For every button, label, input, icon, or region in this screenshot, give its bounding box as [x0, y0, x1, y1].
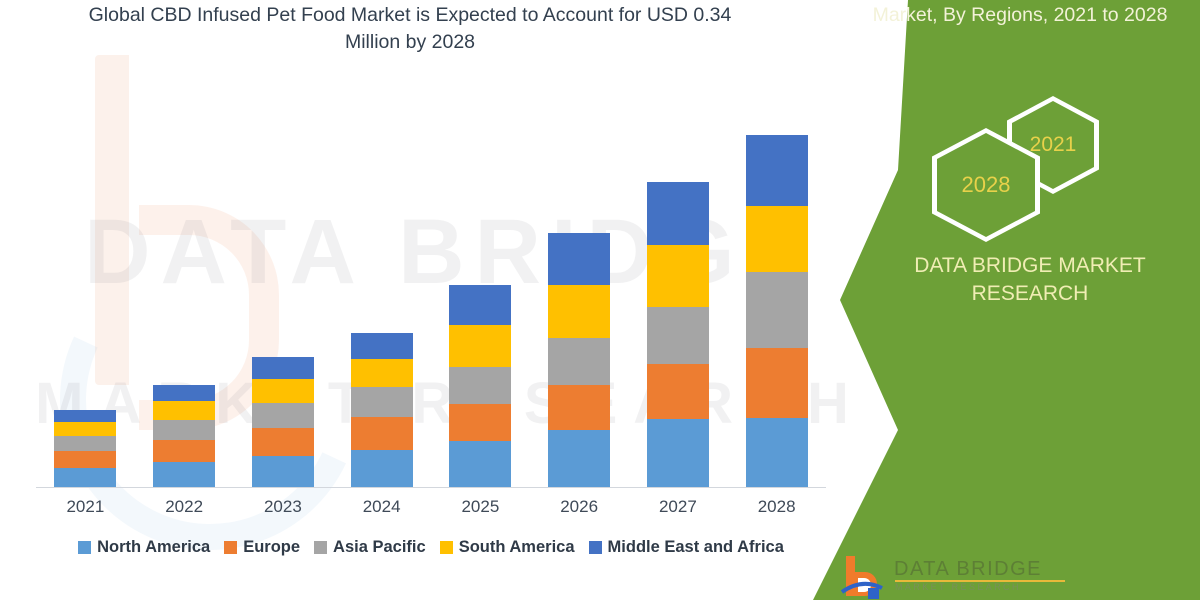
bar-segment [449, 367, 511, 404]
bar-segment [54, 410, 116, 422]
legend-label: South America [459, 538, 575, 557]
bar-segment [647, 364, 709, 419]
bar-segment [746, 348, 808, 418]
bar-segment [153, 385, 215, 401]
legend-label: Asia Pacific [333, 538, 426, 557]
logo-b-icon [838, 552, 886, 600]
x-axis-tick-2026: 2026 [534, 497, 624, 517]
bar-segment [153, 420, 215, 440]
bar-segment [449, 404, 511, 441]
legend-label: Europe [243, 538, 300, 557]
bar-segment [54, 451, 116, 468]
bar-segment [647, 245, 709, 307]
bar-segment [153, 462, 215, 487]
x-axis-tick-2021: 2021 [40, 497, 130, 517]
x-axis-tick-2022: 2022 [139, 497, 229, 517]
bar-segment [54, 436, 116, 451]
bar-segment [351, 450, 413, 487]
stacked-bar [746, 135, 808, 487]
stacked-bar [449, 285, 511, 487]
bar-segment [746, 135, 808, 206]
bar-column-2027 [633, 60, 723, 487]
legend-swatch-icon [314, 541, 327, 554]
bar-segment [252, 428, 314, 456]
bar-column-2023 [238, 60, 328, 487]
bar-column-2026 [534, 60, 624, 487]
stacked-bar [54, 410, 116, 487]
bar-segment [548, 338, 610, 385]
x-axis-tick-2027: 2027 [633, 497, 723, 517]
bar-segment [252, 379, 314, 403]
legend-item: North America [78, 538, 210, 557]
stacked-bar [351, 333, 413, 487]
stacked-bar [252, 357, 314, 487]
bar-segment [548, 430, 610, 487]
chart-panel: Global CBD Infused Pet Food Market is Ex… [0, 0, 900, 600]
bar-segment [548, 285, 610, 338]
panel-heading: Market, By Regions, 2021 to 2028 [870, 2, 1170, 29]
bar-column-2028 [732, 60, 822, 487]
legend-swatch-icon [224, 541, 237, 554]
page-title: Global CBD Infused Pet Food Market is Ex… [60, 2, 760, 56]
bar-segment [647, 182, 709, 245]
x-axis-labels: 20212022202320242025202620272028 [36, 497, 826, 517]
chart-baseline [36, 487, 826, 488]
x-axis-tick-2028: 2028 [732, 497, 822, 517]
chart-legend: North AmericaEuropeAsia PacificSouth Ame… [36, 538, 826, 557]
infographic-canvas: DATA BRIDGE MARKET RESEARCH Global CBD I… [0, 0, 1200, 600]
bar-column-2022 [139, 60, 229, 487]
bar-segment [252, 456, 314, 487]
bar-column-2024 [337, 60, 427, 487]
bar-segment [548, 233, 610, 285]
bar-column-2025 [435, 60, 525, 487]
legend-swatch-icon [78, 541, 91, 554]
bar-segment [351, 359, 413, 387]
bar-segment [153, 440, 215, 462]
legend-swatch-icon [440, 541, 453, 554]
legend-item: Middle East and Africa [589, 538, 784, 557]
bar-segment [548, 385, 610, 430]
data-bridge-logo: DATA BRIDGE MARKET RESEARCH [838, 552, 1068, 600]
x-axis-tick-2023: 2023 [238, 497, 328, 517]
bar-segment [449, 285, 511, 325]
bar-segment [647, 419, 709, 487]
bar-segment [746, 272, 808, 348]
legend-item: Europe [224, 538, 300, 557]
hexagon-end-year-label: 2028 [962, 172, 1011, 198]
stacked-bar [153, 385, 215, 487]
bar-segment [252, 403, 314, 428]
legend-item: Asia Pacific [314, 538, 426, 557]
legend-label: Middle East and Africa [608, 538, 784, 557]
bar-segment [449, 325, 511, 367]
hexagon-badge-end-year: 2028 [932, 128, 1040, 242]
bar-segment [54, 468, 116, 487]
bar-segment [351, 333, 413, 359]
bar-segment [647, 307, 709, 364]
hexagon-start-year-label: 2021 [1030, 133, 1077, 157]
bar-segment [746, 418, 808, 487]
bar-segment [351, 417, 413, 450]
stacked-bar [548, 233, 610, 487]
bar-column-2021 [40, 60, 130, 487]
x-axis-tick-2024: 2024 [337, 497, 427, 517]
stacked-bar [647, 182, 709, 487]
bar-segment [54, 422, 116, 436]
legend-item: South America [440, 538, 575, 557]
logo-tagline: MARKET RESEARCH [895, 582, 1021, 592]
stacked-bar-chart [36, 60, 826, 487]
brand-name: DATA BRIDGE MARKET RESEARCH [880, 252, 1180, 308]
bar-segment [252, 357, 314, 379]
logo-name: DATA BRIDGE [894, 558, 1042, 581]
bar-segment [449, 441, 511, 487]
bar-segment [351, 387, 413, 417]
legend-swatch-icon [589, 541, 602, 554]
x-axis-tick-2025: 2025 [435, 497, 525, 517]
bar-segment [746, 206, 808, 272]
legend-label: North America [97, 538, 210, 557]
bar-segment [153, 401, 215, 420]
